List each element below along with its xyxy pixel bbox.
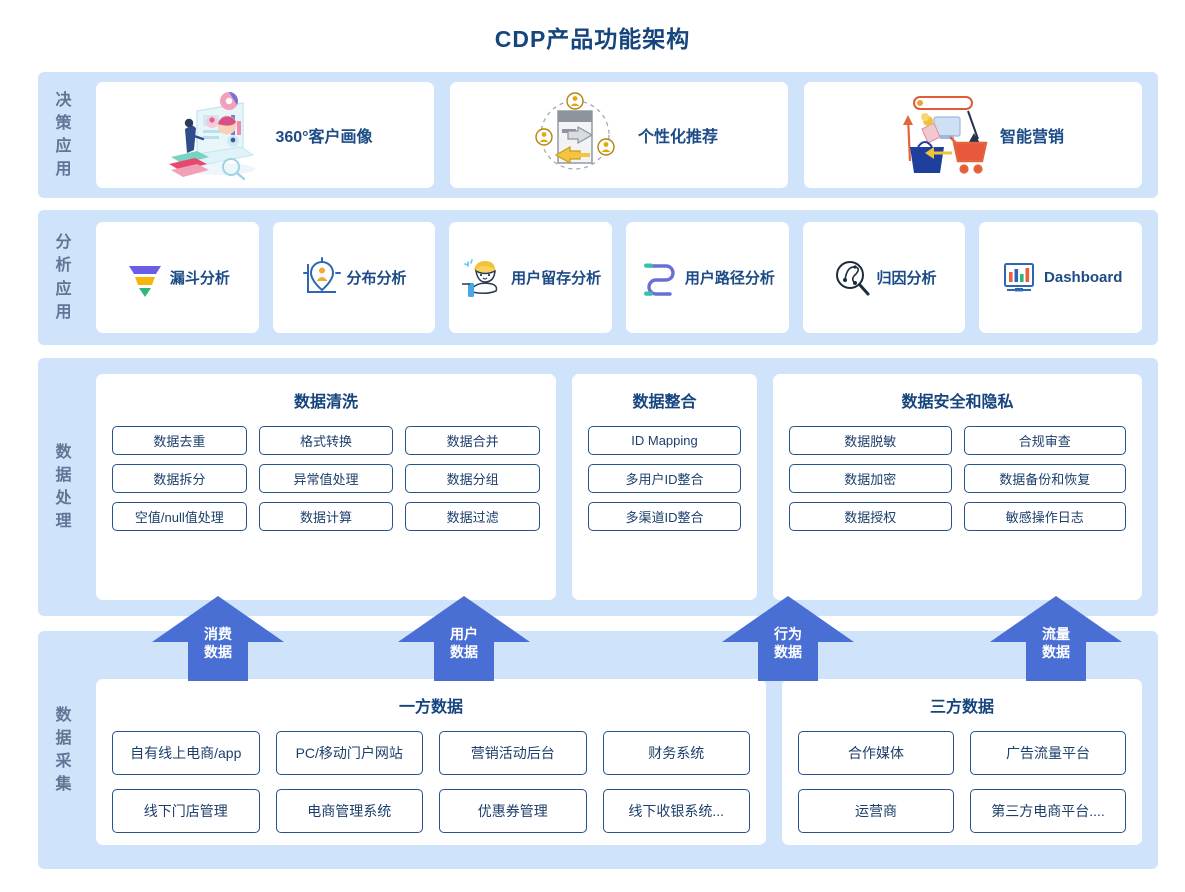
analysis-card-label: 归因分析 [877,267,937,288]
group-title: 数据整合 [588,388,741,412]
chip-grid-third-party: 合作媒体 广告流量平台 运营商 第三方电商平台.... [798,731,1126,833]
analysis-card-attribution[interactable]: 归因分析 [803,222,966,333]
processing-group-list: 数据清洗 数据去重 格式转换 数据合并 数据拆分 异常值处理 数据分组 空值/n… [90,358,1158,616]
cdp-architecture-diagram: CDP产品功能架构 决 策 应 用 [0,0,1185,892]
magnifier-attribution-icon [832,256,872,300]
page-title: CDP产品功能架构 [0,20,1185,54]
analysis-card-label: 漏斗分析 [170,267,230,288]
flow-arrow-user-data: 用户 数据 [398,596,530,681]
chip-grid-data-cleaning: 数据去重 格式转换 数据合并 数据拆分 异常值处理 数据分组 空值/null值处… [112,426,540,531]
group-data-security-privacy: 数据安全和隐私 数据脱敏 合规审查 数据加密 数据备份和恢复 数据授权 敏感操作… [773,374,1142,600]
analysis-card-funnel[interactable]: 漏斗分析 [96,222,259,333]
chip-item[interactable]: 财务系统 [603,731,751,775]
band-analysis-applications: 分 析 应 用 漏斗分析 [38,210,1158,345]
chip-item[interactable]: 空值/null值处理 [112,502,247,531]
band-decision-applications: 决 策 应 用 [38,72,1158,198]
chip-item[interactable]: 合规审查 [964,426,1127,455]
chip-item[interactable]: 优惠券管理 [439,789,587,833]
chip-item[interactable]: 多渠道ID整合 [588,502,741,531]
band-label-processing: 数 据 处 理 [38,358,90,616]
decision-card-smart-marketing[interactable]: 智能营销 [804,82,1142,188]
chip-item[interactable]: 线下收银系统... [603,789,751,833]
group-title: 一方数据 [112,693,750,717]
analysis-card-distribution[interactable]: 分布分析 [273,222,436,333]
chip-item[interactable]: 电商管理系统 [276,789,424,833]
chip-grid-data-security: 数据脱敏 合规审查 数据加密 数据备份和恢复 数据授权 敏感操作日志 [789,426,1126,531]
chip-item[interactable]: 数据计算 [259,502,394,531]
group-title: 三方数据 [798,693,1126,717]
chip-item[interactable]: 数据授权 [789,502,952,531]
band-label-collection: 数 据 采 集 [38,631,90,869]
flow-arrow-consumption-data: 消费 数据 [152,596,284,681]
analysis-card-label: Dashboard [1044,269,1122,286]
chip-item[interactable]: 线下门店管理 [112,789,260,833]
chip-item[interactable]: 合作媒体 [798,731,954,775]
chip-item[interactable]: ID Mapping [588,426,741,455]
band-data-processing: 数 据 处 理 数据清洗 数据去重 格式转换 数据合并 数据拆分 异常值处理 数… [38,358,1158,616]
funnel-icon [125,256,165,300]
chip-item[interactable]: 数据去重 [112,426,247,455]
chip-item[interactable]: 异常值处理 [259,464,394,493]
decision-card-label: 360°客户画像 [275,123,372,147]
decision-card-personalized-recommendation[interactable]: 个性化推荐 [450,82,788,188]
analysis-card-dashboard[interactable]: Dashboard [979,222,1142,333]
chip-grid-data-integration: ID Mapping 多用户ID整合 多渠道ID整合 [588,426,741,531]
chip-item[interactable]: 数据过滤 [405,502,540,531]
group-data-cleaning: 数据清洗 数据去重 格式转换 数据合并 数据拆分 异常值处理 数据分组 空值/n… [96,374,556,600]
analysis-card-path[interactable]: 用户路径分析 [626,222,789,333]
chip-item[interactable]: 数据加密 [789,464,952,493]
flow-arrow-behavior-data: 行为 数据 [722,596,854,681]
flow-arrow-traffic-data: 流量 数据 [990,596,1122,681]
decision-card-customer-profile[interactable]: 360°客户画像 [96,82,434,188]
dashboard-chart-icon [999,256,1039,300]
chip-item[interactable]: 数据脱敏 [789,426,952,455]
group-third-party-data: 三方数据 合作媒体 广告流量平台 运营商 第三方电商平台.... [782,679,1142,845]
arrow-label: 流量 数据 [1032,623,1080,666]
group-title: 数据安全和隐私 [789,388,1126,412]
location-pin-person-icon [302,256,342,300]
decision-card-label: 智能营销 [1000,123,1064,147]
chip-item[interactable]: 第三方电商平台.... [970,789,1126,833]
chip-item[interactable]: PC/移动门户网站 [276,731,424,775]
path-route-icon [640,256,680,300]
chip-grid-first-party: 自有线上电商/app PC/移动门户网站 营销活动后台 财务系统 线下门店管理 … [112,731,750,833]
chip-item[interactable]: 数据合并 [405,426,540,455]
arrow-label: 用户 数据 [440,623,488,666]
chip-item[interactable]: 数据分组 [405,464,540,493]
chip-item[interactable]: 格式转换 [259,426,394,455]
analysis-card-retention[interactable]: 用户留存分析 [449,222,612,333]
band-label-decision: 决 策 应 用 [38,72,90,198]
chip-item[interactable]: 敏感操作日志 [964,502,1127,531]
analysis-card-label: 用户留存分析 [511,267,601,288]
arrow-label: 消费 数据 [194,623,242,666]
group-title: 数据清洗 [112,388,540,412]
customer-profile-illustration-icon [157,89,267,181]
analysis-card-label: 分布分析 [347,267,407,288]
user-retention-person-icon [460,256,506,300]
chip-item[interactable]: 营销活动后台 [439,731,587,775]
personalized-recommendation-illustration-icon [520,89,630,181]
decision-card-list: 360°客户画像 [90,72,1158,198]
analysis-card-label: 用户路径分析 [685,267,775,288]
arrow-label: 行为 数据 [764,623,812,666]
decision-card-label: 个性化推荐 [638,123,718,147]
chip-item[interactable]: 广告流量平台 [970,731,1126,775]
band-label-analysis: 分 析 应 用 [38,210,90,345]
chip-item[interactable]: 多用户ID整合 [588,464,741,493]
group-data-integration: 数据整合 ID Mapping 多用户ID整合 多渠道ID整合 [572,374,757,600]
chip-item[interactable]: 运营商 [798,789,954,833]
chip-item[interactable]: 数据拆分 [112,464,247,493]
smart-marketing-illustration-icon [882,89,992,181]
chip-item[interactable]: 自有线上电商/app [112,731,260,775]
group-first-party-data: 一方数据 自有线上电商/app PC/移动门户网站 营销活动后台 财务系统 线下… [96,679,766,845]
analysis-card-list: 漏斗分析 分布分析 [90,210,1158,345]
chip-item[interactable]: 数据备份和恢复 [964,464,1127,493]
